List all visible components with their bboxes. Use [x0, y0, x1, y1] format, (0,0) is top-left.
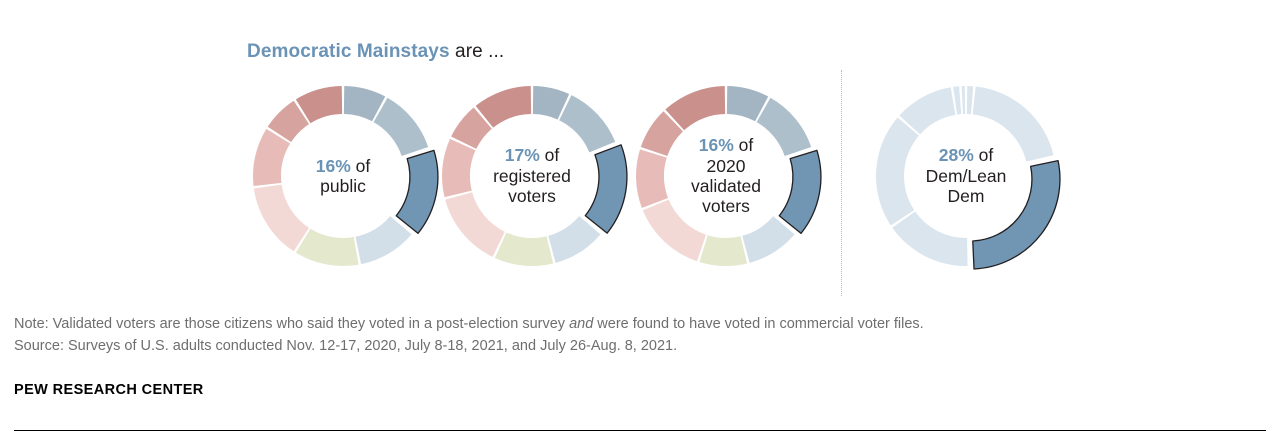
- donut-segment-seg-blue-grey-2: [374, 98, 429, 156]
- donut-chart-group: 16% ofpublic17% ofregisteredvoters16% of…: [0, 76, 1280, 298]
- donut-segment-seg-blue-grey-2: [757, 98, 812, 156]
- donut-segment-seg-olive: [495, 232, 553, 266]
- donut-segment-seg-pale-3: [892, 212, 967, 266]
- donut-chart-validated-voters-2020: 16% of2020validatedvoters: [626, 76, 826, 276]
- donut-ring-validated-voters-2020: [626, 76, 826, 276]
- donut-segment-seg-olive: [296, 229, 359, 266]
- source-line: Source: Surveys of U.S. adults conducted…: [14, 335, 1269, 357]
- pew-donut-figure: Democratic Mainstays are ... 16% ofpubli…: [0, 0, 1280, 440]
- note-italic: and: [569, 316, 593, 332]
- donut-segment-seg-pink: [442, 139, 476, 197]
- donut-segment-democratic-mainstays: [779, 150, 821, 233]
- donut-chart-public: 16% ofpublic: [243, 76, 443, 276]
- title-highlight: Democratic Mainstays: [247, 41, 450, 62]
- note-line: Note: Validated voters are those citizen…: [14, 313, 1269, 335]
- vertical-divider: [841, 70, 842, 296]
- donut-segment-seg-olive: [699, 235, 747, 266]
- note-suffix: were found to have voted in commercial v…: [593, 316, 923, 332]
- donut-chart-registered-voters: 17% ofregisteredvoters: [432, 76, 632, 276]
- pew-research-center-brand: PEW RESEARCH CENTER: [14, 382, 204, 398]
- donut-segment-seg-pale-7: [962, 86, 966, 114]
- donut-segment-seg-pale-pink: [445, 192, 505, 257]
- donut-ring-public: [243, 76, 443, 276]
- donut-chart-dem-lean-dem: 28% ofDem/LeanDem: [866, 76, 1066, 276]
- chart-notes: Note: Validated voters are those citizen…: [14, 313, 1269, 357]
- page-title: Democratic Mainstays are ...: [247, 41, 504, 63]
- donut-segment-seg-pale-4: [876, 117, 919, 225]
- donut-segment-seg-pale-pink: [254, 185, 309, 252]
- donut-segment-seg-pale-2: [973, 87, 1054, 162]
- donut-segment-seg-pale-blue: [548, 216, 600, 263]
- donut-segment-seg-pale-1: [967, 86, 973, 114]
- title-rest: are ...: [450, 41, 505, 62]
- donut-ring-registered-voters: [432, 76, 632, 276]
- donut-segment-seg-blue-grey-2: [559, 95, 615, 152]
- donut-segment-seg-pink: [636, 149, 668, 208]
- donut-segment-democratic-mainstays: [973, 161, 1060, 269]
- donut-segment-seg-pale-pink: [643, 200, 706, 262]
- note-prefix: Note: Validated voters are those citizen…: [14, 316, 569, 332]
- donut-segment-democratic-mainstays: [585, 145, 627, 233]
- donut-segment-seg-pale-blue: [742, 216, 794, 263]
- footer-rule: [14, 430, 1266, 431]
- donut-segment-seg-pale-blue: [355, 216, 411, 264]
- donut-ring-dem-lean-dem: [866, 76, 1066, 276]
